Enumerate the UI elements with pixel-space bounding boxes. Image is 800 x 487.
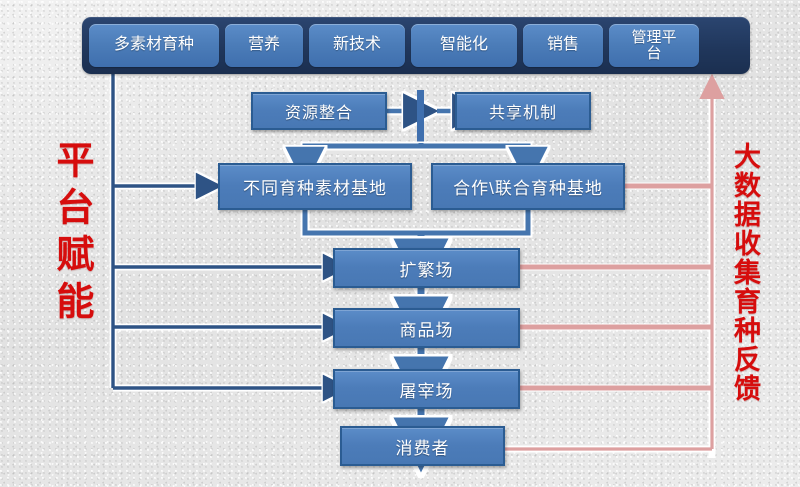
diagram-canvas: 多素材育种 营养 新技术 智能化 销售 管理平 台 资源整合 共享机制 不同育种… [0,0,800,487]
box-resource-integration[interactable]: 资源整合 [251,92,387,130]
chip-nutrition[interactable]: 营养 [225,24,303,67]
caption-bigdata-feedback: 大数据收集育种反馈 [726,142,765,403]
chip-new-technology[interactable]: 新技术 [309,24,405,67]
box-sharing-mechanism[interactable]: 共享机制 [455,92,591,130]
feedback-lines [505,96,712,449]
box-slaughterhouse[interactable]: 屠宰场 [333,369,520,409]
box-consumer[interactable]: 消费者 [340,426,505,466]
chip-intelligentization[interactable]: 智能化 [411,24,517,67]
box-multiplication-farm[interactable]: 扩繁场 [333,248,520,288]
feedback-connectors [505,86,712,458]
caption-platform-empowerment: 平台赋能 [44,140,99,328]
bases-merge-connector [305,210,528,248]
chip-multi-material-breeding[interactable]: 多素材育种 [89,24,219,67]
box-material-base[interactable]: 不同育种素材基地 [218,163,412,210]
platform-capability-bar: 多素材育种 营养 新技术 智能化 销售 管理平 台 [82,17,750,74]
box-commodity-farm[interactable]: 商品场 [333,308,520,348]
box-cooperative-base[interactable]: 合作\联合育种基地 [431,163,625,210]
chip-management-platform[interactable]: 管理平 台 [609,24,699,67]
chip-sales[interactable]: 销售 [523,24,603,67]
